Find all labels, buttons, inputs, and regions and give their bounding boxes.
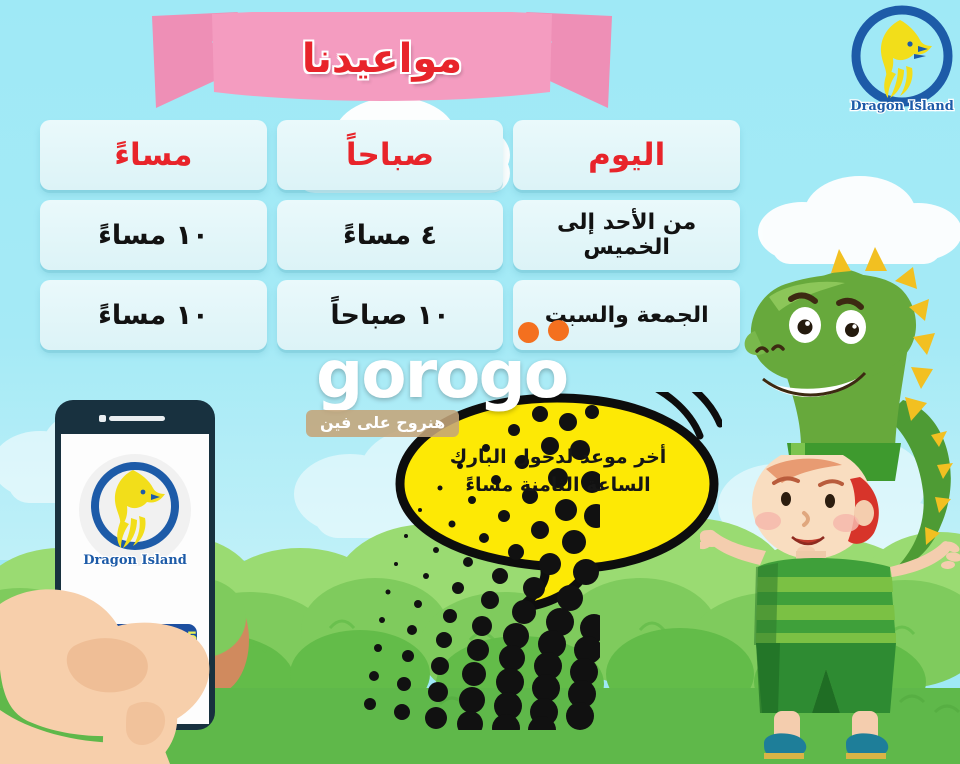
svg-text:Dragon Island: Dragon Island (850, 99, 954, 114)
phone-camera-icon (99, 415, 106, 422)
dragon-head-icon: Dragon Island (848, 4, 956, 120)
boy-character-icon (700, 455, 960, 764)
phone-speaker-icon (109, 416, 165, 421)
cell-morning-0: ٤ مساءً (277, 200, 504, 270)
header-cell-evening: مساءً (40, 120, 267, 190)
cell-day-0: من الأحد إلى الخميس (513, 200, 740, 270)
header-label-day: اليوم (588, 137, 665, 173)
schedule-table: اليوم صباحاً مساءً من الأحد إلى الخميس ٤… (40, 120, 740, 360)
brand-logo[interactable]: Dragon Island (848, 4, 956, 120)
header-label-evening: مساءً (114, 137, 192, 173)
banner-title: مواعيدنا (152, 12, 612, 112)
watermark: gorogo هنروح على فين (302, 330, 642, 450)
notice-line-2: الساعة الثامنة مساءً (420, 472, 696, 500)
cell-text: ١٠ مساءً (98, 300, 209, 331)
header-cell-morning: صباحاً (277, 120, 504, 190)
notice-text: أخر موعد لدخول البارك الساعة الثامنة مسا… (420, 444, 696, 499)
watermark-text: gorogo (316, 342, 567, 408)
watermark-tagline: هنروح على فين (306, 410, 459, 437)
header-cell-day: اليوم (513, 120, 740, 190)
phone-dragon-logo-icon: Dragon Island (77, 448, 193, 574)
cell-text: ٤ مساءً (343, 220, 437, 251)
schedule-header-row: اليوم صباحاً مساءً (40, 120, 740, 190)
header-label-morning: صباحاً (346, 137, 434, 173)
cell-text: الجمعة والسبت (545, 303, 709, 328)
cell-evening-0: ١٠ مساءً (40, 200, 267, 270)
cell-text: ١٠ مساءً (98, 220, 209, 251)
banner: مواعيدنا (152, 12, 612, 112)
thumb-icon (88, 648, 208, 764)
cell-text: من الأحد إلى الخميس (513, 210, 740, 260)
poster-canvas: مواعيدنا Dragon Island اليوم (0, 0, 960, 764)
cell-evening-1: ١٠ مساءً (40, 280, 267, 350)
cell-text: ١٠ صباحاً (330, 300, 449, 331)
table-row: من الأحد إلى الخميس ٤ مساءً ١٠ مساءً (40, 200, 740, 270)
